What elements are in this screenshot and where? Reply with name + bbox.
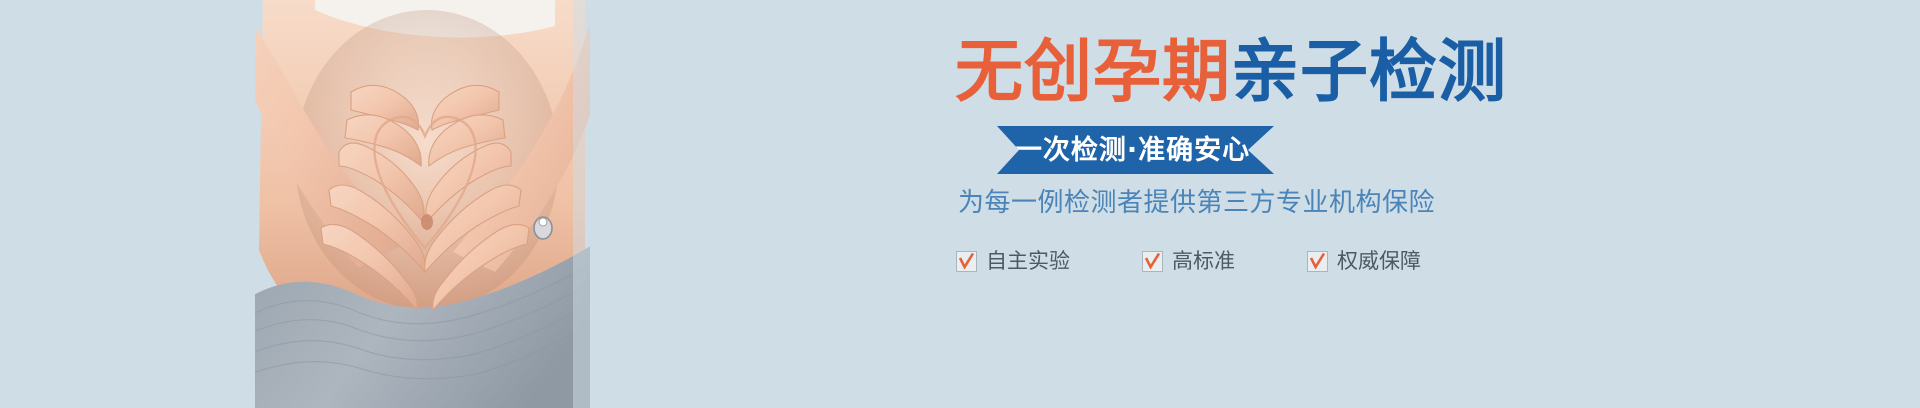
checkbox-checked-icon — [1307, 251, 1328, 272]
feature-label: 高标准 — [1172, 251, 1235, 272]
banner-content: 无创孕期亲子检测 一次检测·准确安心 为每一例检测者提供第三方专业机构保险 自主… — [760, 0, 1920, 408]
feature-list: 自主实验 高标准 权威保障 — [956, 251, 1421, 272]
pregnant-belly-photo-graphic — [255, 0, 590, 408]
promo-banner: 无创孕期亲子检测 一次检测·准确安心 为每一例检测者提供第三方专业机构保险 自主… — [0, 0, 1920, 408]
feature-item: 高标准 — [1142, 251, 1235, 272]
subheadline: 为每一例检测者提供第三方专业机构保险 — [958, 188, 1435, 218]
check-mark-icon — [1144, 252, 1161, 270]
tagline-ribbon-label: 一次检测·准确安心 — [1015, 137, 1250, 164]
page-title: 无创孕期亲子检测 — [955, 34, 1507, 112]
pregnant-belly-photo — [255, 0, 590, 408]
wedding-ring — [534, 217, 552, 239]
check-mark-icon — [958, 252, 975, 270]
feature-label: 自主实验 — [986, 251, 1070, 272]
check-mark-icon — [1309, 252, 1326, 270]
headline-orange-part: 无创孕期 — [955, 33, 1231, 112]
feature-label: 权威保障 — [1337, 251, 1421, 272]
ribbon-right-notch-icon — [1248, 126, 1274, 174]
tagline-ribbon: 一次检测·准确安心 — [997, 126, 1274, 174]
feature-item: 自主实验 — [956, 251, 1070, 272]
checkbox-checked-icon — [956, 251, 977, 272]
headline-blue-part: 亲子检测 — [1231, 33, 1507, 112]
feature-item: 权威保障 — [1307, 251, 1421, 272]
checkbox-checked-icon — [1142, 251, 1163, 272]
